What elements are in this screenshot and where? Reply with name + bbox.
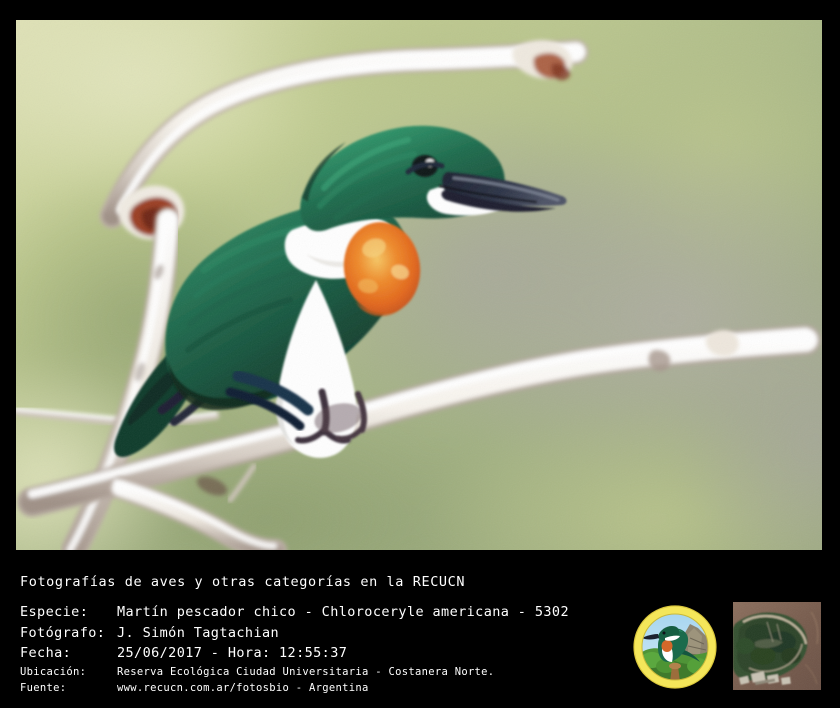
caption-row-fuente: Fuente: www.recucn.com.ar/fotosbio - Arg… — [20, 680, 569, 696]
caption-row-fecha: Fecha: 25/06/2017 - Hora: 12:55:37 — [20, 643, 569, 664]
value-fotografo: J. Simón Tagtachian — [117, 623, 279, 644]
value-fecha: 25/06/2017 - Hora: 12:55:37 — [117, 643, 347, 664]
bird-photograph — [16, 20, 822, 550]
label-especie: Especie: — [20, 602, 117, 623]
photo-canvas — [16, 20, 822, 550]
caption-row-especie: Especie: Martín pescador chico - Chloroc… — [20, 602, 569, 623]
photo-grain — [16, 20, 822, 550]
photo-card: Fotografías de aves y otras categorías e… — [0, 0, 840, 708]
value-especie: Martín pescador chico - Chloroceryle ame… — [117, 602, 569, 623]
reserve-aerial-thumbnail[interactable] — [733, 602, 821, 690]
aerial-canvas — [733, 602, 821, 690]
caption-rows: Especie: Martín pescador chico - Chloroc… — [20, 602, 569, 696]
value-ubicacion: Reserva Ecológica Ciudad Universitaria -… — [117, 664, 494, 680]
caption-row-fotografo: Fotógrafo: J. Simón Tagtachian — [20, 623, 569, 644]
caption-title: Fotografías de aves y otras categorías e… — [20, 574, 465, 590]
caption-row-ubicacion: Ubicación: Reserva Ecológica Ciudad Univ… — [20, 664, 569, 680]
label-fecha: Fecha: — [20, 643, 117, 664]
label-fotografo: Fotógrafo: — [20, 623, 117, 644]
emblem-canvas — [632, 604, 718, 690]
label-fuente: Fuente: — [20, 680, 117, 696]
recucn-emblem-logo[interactable] — [632, 604, 718, 690]
value-fuente: www.recucn.com.ar/fotosbio - Argentina — [117, 680, 369, 696]
label-ubicacion: Ubicación: — [20, 664, 117, 680]
